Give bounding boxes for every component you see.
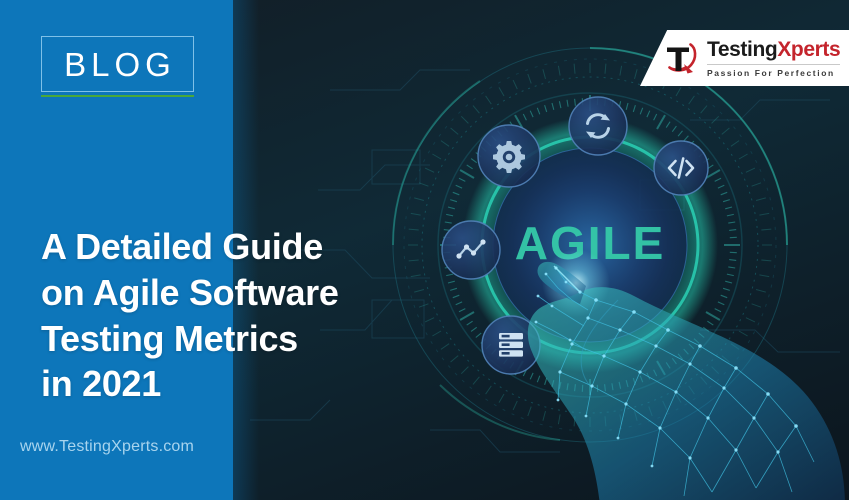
code-icon xyxy=(654,141,708,195)
logo-name-testing: Testing xyxy=(707,38,777,61)
blog-banner: AGILE xyxy=(0,0,849,500)
blog-badge-underline xyxy=(41,95,194,97)
logo-tagline: Passion For Perfection xyxy=(707,68,840,78)
gear-icon xyxy=(478,125,540,187)
headline-line-4: in 2021 xyxy=(41,361,461,407)
headline-line-3: Testing Metrics xyxy=(41,316,461,362)
logo-wordmark: TestingXperts Passion For Perfection xyxy=(707,39,840,78)
brand-logo[interactable]: TestingXperts Passion For Perfection xyxy=(640,30,849,86)
tq-monogram-icon xyxy=(660,38,700,78)
page-title: A Detailed Guide on Agile Software Testi… xyxy=(41,224,461,407)
sync-icon xyxy=(569,97,627,155)
blog-badge-label: BLOG xyxy=(59,48,176,81)
blog-badge: BLOG xyxy=(41,36,194,92)
site-url[interactable]: www.TestingXperts.com xyxy=(20,438,194,456)
logo-divider xyxy=(707,64,840,65)
headline-line-2: on Agile Software xyxy=(41,270,461,316)
logo-name-xperts: Xperts xyxy=(777,38,840,61)
headline-line-1: A Detailed Guide xyxy=(41,224,461,270)
